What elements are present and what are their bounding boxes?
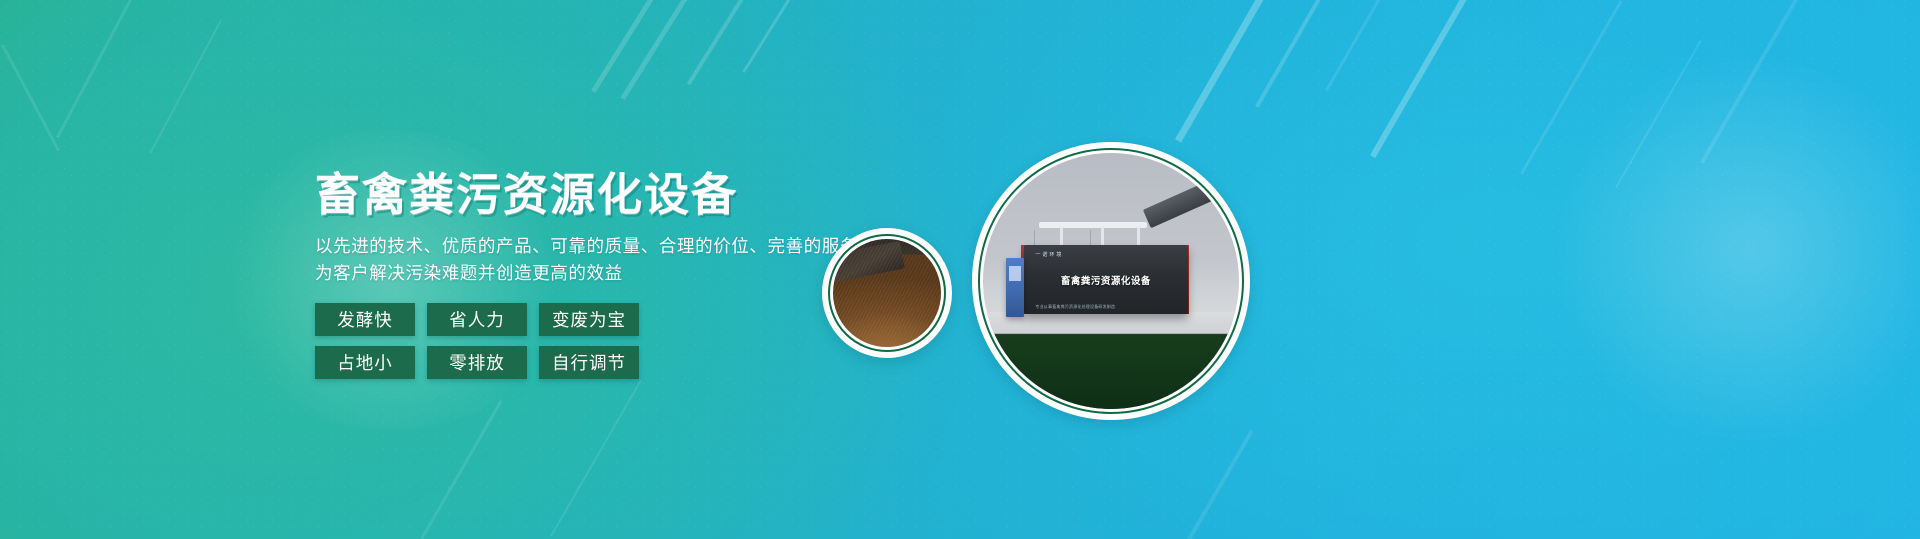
equipment-device-label: 畜禽粪污资源化设备 bbox=[1037, 266, 1175, 294]
equipment-body: 一 诺 环 境 畜禽粪污资源化设备 专业从事畜禽粪污资源化处理设备研发制造 bbox=[1024, 245, 1188, 314]
equipment-photo-frame: 一 诺 环 境 畜禽粪污资源化设备 专业从事畜禽粪污资源化处理设备研发制造 bbox=[972, 142, 1250, 420]
decor-ray-12 bbox=[1615, 40, 1702, 188]
decor-ray-3 bbox=[591, 0, 664, 93]
decor-ray-14 bbox=[1, 44, 60, 151]
compost-photo-frame bbox=[822, 228, 952, 358]
equipment-render-photo: 一 诺 环 境 畜禽粪污资源化设备 专业从事畜禽粪污资源化处理设备研发制造 bbox=[983, 153, 1239, 409]
decor-ray-7 bbox=[1175, 0, 1296, 143]
decor-ray-16 bbox=[550, 380, 642, 537]
decor-ray-11 bbox=[1520, 0, 1623, 175]
equipment-photo-ring: 一 诺 环 境 畜禽粪污资源化设备 专业从事畜禽粪污资源化处理设备研发制造 bbox=[978, 148, 1244, 414]
decor-glow-right bbox=[1540, 60, 1920, 440]
compost-photo-ring bbox=[828, 234, 946, 352]
decor-ray-8 bbox=[1255, 0, 1348, 108]
feature-tag-self-adjusting[interactable]: 自行调节 bbox=[539, 346, 639, 379]
equipment-brand-label: 一 诺 环 境 bbox=[1035, 251, 1061, 258]
equipment-conveyor-arm bbox=[1143, 179, 1221, 229]
hero-banner: 畜禽粪污资源化设备 以先进的技术、优质的产品、可靠的质量、合理的价位、完善的服务… bbox=[0, 0, 1920, 539]
page-title: 畜禽粪污资源化设备 bbox=[315, 168, 935, 221]
decor-ray-2 bbox=[150, 20, 222, 153]
background-noise-texture bbox=[0, 0, 1920, 539]
equipment-footnote: 专业从事畜禽粪污资源化处理设备研发制造 bbox=[1035, 304, 1115, 310]
feature-tag-fermentation-speed[interactable]: 发酵快 bbox=[315, 303, 415, 336]
decor-ray-10 bbox=[1370, 0, 1505, 158]
decor-ray-9 bbox=[1325, 0, 1403, 91]
decor-ray-13 bbox=[1700, 0, 1808, 164]
equipment-floor bbox=[983, 312, 1239, 409]
compost-pile-photo bbox=[833, 239, 941, 347]
feature-tag-labor-saving[interactable]: 省人力 bbox=[427, 303, 527, 336]
equipment-rail bbox=[1039, 222, 1147, 228]
feature-tag-small-footprint[interactable]: 占地小 bbox=[315, 346, 415, 379]
decor-ray-1 bbox=[56, 0, 153, 138]
decor-ray-17 bbox=[1180, 430, 1253, 539]
feature-tag-waste-to-treasure[interactable]: 变废为宝 bbox=[539, 303, 639, 336]
equipment-control-cabinet bbox=[1006, 258, 1024, 317]
feature-tag-list: 发酵快 省人力 变废为宝 占地小 零排放 自行调节 bbox=[315, 303, 655, 379]
decor-ray-5 bbox=[687, 0, 749, 85]
feature-tag-zero-emission[interactable]: 零排放 bbox=[427, 346, 527, 379]
decor-ray-4 bbox=[621, 0, 705, 100]
decor-ray-6 bbox=[742, 0, 792, 73]
decor-ray-15 bbox=[420, 400, 503, 539]
